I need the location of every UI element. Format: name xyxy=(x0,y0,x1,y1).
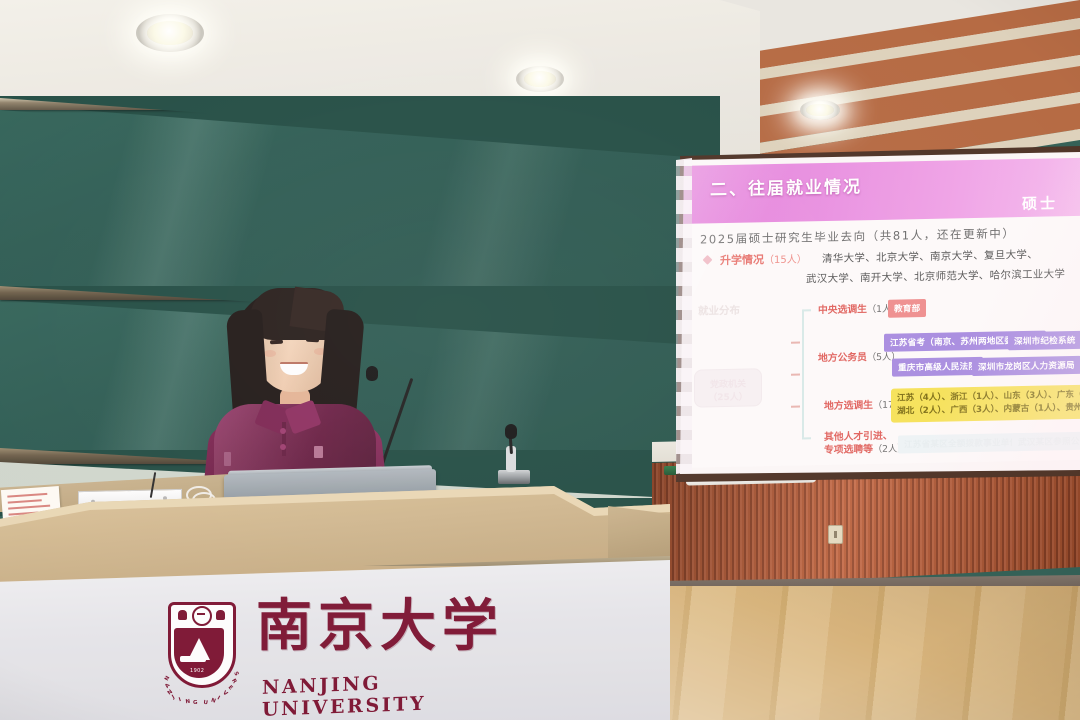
crest-torch-icon xyxy=(192,606,212,626)
power-outlet xyxy=(828,525,843,544)
chip-shenzhen-longgang-hr: 深圳市龙岗区人力资源局 xyxy=(972,356,1080,376)
tree-branch xyxy=(791,374,800,376)
nanjing-university-logo: 1902 N A N J I N G U N I V E R S 南京大学 NA… xyxy=(168,596,518,704)
projection-screen: 二、往届就业情况 硕士 2025届硕士研究生毕业去向（共81人，还在更新中） 升… xyxy=(676,152,1080,474)
crest-arc-text: N A N J I N G U N I V E R S xyxy=(166,654,238,698)
downlight-icon xyxy=(136,14,204,52)
shirt-button xyxy=(280,428,286,434)
chip-jiangsu-public-institution: 江苏省某区全额拨款事业单位 xyxy=(898,433,1024,454)
nju-chinese-name: 南京大学 xyxy=(256,598,504,654)
microphone-base-right xyxy=(498,470,530,484)
presentation-slide: 二、往届就业情况 硕士 2025届硕士研究生毕业去向（共81人，还在更新中） 升… xyxy=(676,152,1080,474)
downlight-icon xyxy=(800,100,840,120)
shirt-sleeve-mark xyxy=(224,452,231,466)
eye-left xyxy=(270,340,283,345)
nju-english-name: NANJING UNIVERSITY xyxy=(262,667,518,720)
microphone-head-right xyxy=(505,424,517,439)
tree-branch-bottom xyxy=(802,437,811,439)
nju-crest-icon: 1902 N A N J I N G U N I V E R S xyxy=(168,602,236,688)
cheek-left xyxy=(264,350,276,357)
screen-left-ripple xyxy=(676,152,692,474)
further-study-label: 升学情况（15人） xyxy=(720,250,807,268)
shirt-crest-logo xyxy=(314,446,323,458)
node-other-talent: 其他人才引进、 专项选聘等（2人） xyxy=(824,429,906,457)
group-faded-box: 党政机关 （25人） xyxy=(694,368,762,407)
tree-branch xyxy=(791,406,800,408)
chip-ministry-education: 教育部 xyxy=(888,299,926,318)
crest-lion-right xyxy=(216,610,225,620)
wood-floor xyxy=(640,586,1080,720)
slide-title: 二、往届就业情况 xyxy=(710,172,862,200)
tree-branch xyxy=(791,342,800,344)
distribution-label: 就业分布 xyxy=(698,303,740,319)
chip-shenzhen-discipline: 深圳市纪检系统 xyxy=(1008,331,1080,350)
slide-level-badge: 硕士 xyxy=(1022,192,1058,214)
node-local-civil-servant: 地方公务员（5人） xyxy=(818,350,900,365)
crest-lion-left xyxy=(178,610,187,620)
tree-trunk xyxy=(802,309,804,437)
lecture-hall-photo: 二、往届就业情况 硕士 2025届硕士研究生毕业去向（共81人，还在更新中） 升… xyxy=(0,0,1080,720)
downlight-icon xyxy=(516,66,564,92)
chip-wuhan-civil-equiv: 武汉某区参照公务员 xyxy=(1012,431,1080,451)
chip-province-breakdown: 江苏（4人）、浙江（1人）、山东（3人）、广东（1人）、 湖北（2人）、广西（3… xyxy=(891,384,1080,422)
chip-chongqing-court: 重庆市高级人民法院 xyxy=(892,357,983,377)
shirt-button xyxy=(280,444,286,450)
tree-branch-top xyxy=(802,309,811,311)
